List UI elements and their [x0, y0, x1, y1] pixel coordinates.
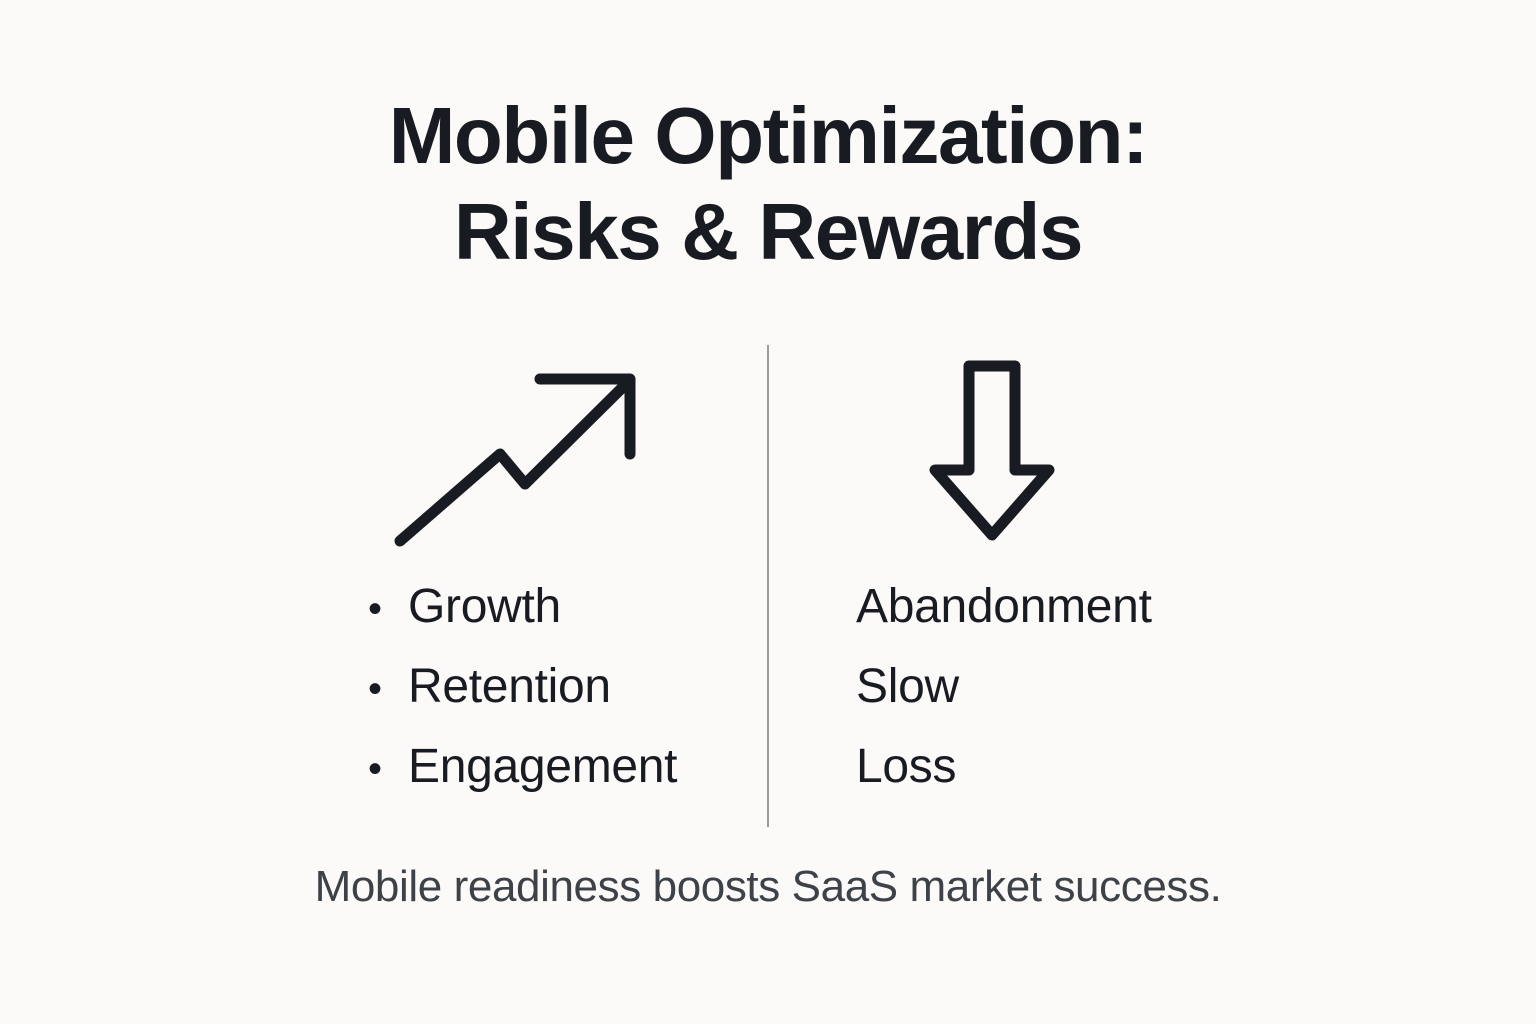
list-item: Slow: [856, 647, 1152, 727]
list-item: • Growth: [368, 567, 677, 647]
list-item-label: Engagement: [408, 727, 677, 807]
column-divider: [767, 345, 769, 827]
caption-text: Mobile readiness boosts SaaS market succ…: [0, 858, 1536, 916]
list-item: Loss: [856, 727, 1152, 807]
page-title: Mobile Optimization: Risks & Rewards: [0, 88, 1536, 280]
list-item: • Retention: [368, 647, 677, 727]
risks-column: Abandonment Slow Loss: [800, 345, 1240, 827]
slide-canvas: Mobile Optimization: Risks & Rewards • G…: [0, 0, 1536, 1024]
page-title-line-2: Risks & Rewards: [0, 184, 1536, 280]
list-item: • Engagement: [368, 727, 677, 807]
list-item-label: Loss: [856, 727, 956, 807]
list-item-label: Growth: [408, 567, 561, 647]
rewards-column: • Growth • Retention • Engagement: [300, 345, 740, 827]
bullet-icon: •: [368, 729, 408, 809]
risks-list: Abandonment Slow Loss: [856, 567, 1152, 807]
rewards-list: • Growth • Retention • Engagement: [368, 567, 677, 807]
trending-up-arrow-icon: [388, 353, 656, 553]
page-title-line-1: Mobile Optimization:: [0, 88, 1536, 184]
list-item-label: Abandonment: [856, 567, 1152, 647]
bullet-icon: •: [368, 569, 408, 649]
list-item-label: Slow: [856, 647, 959, 727]
bullet-icon: •: [368, 649, 408, 729]
comparison-columns: • Growth • Retention • Engagement: [0, 345, 1536, 827]
list-item-label: Retention: [408, 647, 611, 727]
arrow-down-outline-icon: [922, 353, 1062, 549]
list-item: Abandonment: [856, 567, 1152, 647]
